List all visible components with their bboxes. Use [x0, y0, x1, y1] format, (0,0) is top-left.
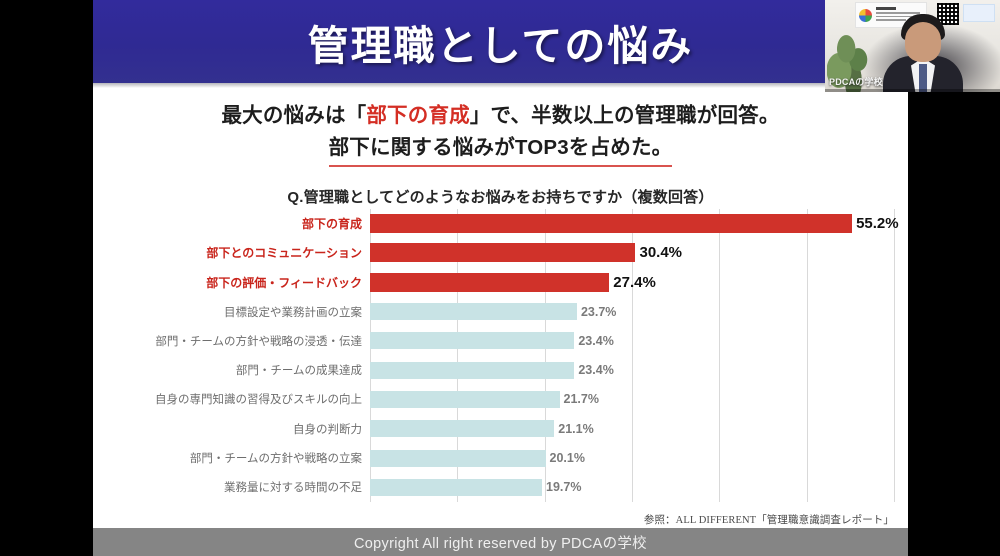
chart-bar-row: 部門・チームの成果達成23.4% — [370, 356, 894, 385]
chart-bar-row: 部下の評価・フィードバック27.4% — [370, 268, 894, 297]
chart-bar-row: 部門・チームの方針や戦略の立案20.1% — [370, 443, 894, 472]
chart-bar-row: 自身の専門知識の習得及びスキルの向上21.7% — [370, 385, 894, 414]
bar-category-label: 自身の判断力 — [149, 421, 362, 437]
bar-category-label: 部下の育成 — [149, 215, 362, 232]
chart-bar — [370, 214, 852, 233]
screen-stage: 管理職としての悩み 最大の悩みは「部下の育成」で、半数以上の管理職が回答。 部下… — [0, 0, 1000, 556]
chart-bar-row: 部下の育成55.2% — [370, 209, 894, 238]
presenter-avatar — [883, 14, 963, 92]
bar-value-label: 23.4% — [574, 363, 613, 377]
chart-bar — [370, 243, 635, 262]
presenter-face — [905, 22, 941, 62]
bar-value-label: 30.4% — [635, 244, 682, 261]
chart-bar — [370, 391, 560, 408]
bar-value-label: 23.4% — [574, 334, 613, 348]
subtitle-line1-after: 」で、半数以上の管理職が回答。 — [470, 104, 780, 127]
subtitle-line-2: 部下に関する悩みがTOP3を占めた。 — [329, 132, 673, 167]
bar-category-label: 部門・チームの成果達成 — [149, 362, 362, 378]
source-note: 参照：ALL DIFFERENT「管理職意識調査レポート」 — [644, 512, 894, 527]
bar-category-label: 部下の評価・フィードバック — [149, 274, 362, 291]
video-watermark: PDCAの学校 — [825, 74, 888, 90]
subtitle-highlight: 部下の育成 — [366, 104, 470, 127]
gridline — [894, 209, 895, 502]
chart-bar — [370, 303, 577, 320]
chart-bar-row: 目標設定や業務計画の立案23.7% — [370, 297, 894, 326]
bar-value-label: 21.1% — [554, 422, 593, 436]
chart-bar-row: 部下とのコミュニケーション30.4% — [370, 238, 894, 267]
presenter-tie — [919, 64, 927, 92]
chart-plot-area: 部下の育成55.2%部下とのコミュニケーション30.4%部下の評価・フィードバッ… — [370, 209, 894, 502]
presentation-slide: 管理職としての悩み 最大の悩みは「部下の育成」で、半数以上の管理職が回答。 部下… — [93, 0, 908, 556]
video-bottom-strip — [825, 89, 1000, 92]
bar-value-label: 27.4% — [609, 274, 656, 291]
bar-category-label: 自身の専門知識の習得及びスキルの向上 — [149, 391, 362, 407]
bar-category-label: 業務量に対する時間の不足 — [149, 479, 362, 495]
subtitle-line-2-wrap: 部下に関する悩みがTOP3を占めた。 — [93, 132, 908, 167]
subtitle-line-1: 最大の悩みは「部下の育成」で、半数以上の管理職が回答。 — [93, 100, 908, 132]
bar-value-label: 19.7% — [542, 480, 581, 494]
presenter-video-tile[interactable]: PDCAの学校 — [825, 0, 1000, 92]
subtitle-line1-before: 最大の悩みは「 — [221, 104, 366, 127]
bar-value-label: 21.7% — [560, 392, 599, 406]
bar-category-label: 部門・チームの方針や戦略の立案 — [149, 450, 362, 466]
chart-bar — [370, 332, 574, 349]
chart-bar — [370, 450, 546, 467]
bar-category-label: 部門・チームの方針や戦略の浸透・伝達 — [149, 333, 362, 349]
page-title: 管理職としての悩み — [93, 0, 908, 83]
chart-title: Q.管理職としてどのようなお悩みをお持ちですか（複数回答） — [93, 186, 908, 207]
chart-bar-row: 自身の判断力21.1% — [370, 414, 894, 443]
bar-value-label: 23.7% — [577, 305, 616, 319]
chart-bar — [370, 479, 542, 496]
footer-bar: Copyright All right reserved by PDCAの学校 — [93, 528, 908, 556]
bar-category-label: 目標設定や業務計画の立案 — [149, 304, 362, 320]
chart-bar-row: 業務量に対する時間の不足19.7% — [370, 473, 894, 502]
bar-chart: 部下の育成55.2%部下とのコミュニケーション30.4%部下の評価・フィードバッ… — [149, 209, 894, 502]
bar-value-label: 20.1% — [546, 451, 585, 465]
copyright-text: Copyright All right reserved by PDCAの学校 — [354, 532, 647, 553]
bar-value-label: 55.2% — [852, 215, 899, 232]
title-band: 管理職としての悩み — [93, 0, 908, 83]
subtitle-block: 最大の悩みは「部下の育成」で、半数以上の管理職が回答。 部下に関する悩みがTOP… — [93, 100, 908, 167]
chart-rows: 部下の育成55.2%部下とのコミュニケーション30.4%部下の評価・フィードバッ… — [370, 209, 894, 502]
chart-bar — [370, 362, 574, 379]
bar-category-label: 部下とのコミュニケーション — [149, 244, 362, 261]
chart-bar-row: 部門・チームの方針や戦略の浸透・伝達23.4% — [370, 326, 894, 355]
qr-caption-card — [963, 4, 995, 22]
chart-bar — [370, 420, 554, 437]
chart-bar — [370, 273, 609, 292]
